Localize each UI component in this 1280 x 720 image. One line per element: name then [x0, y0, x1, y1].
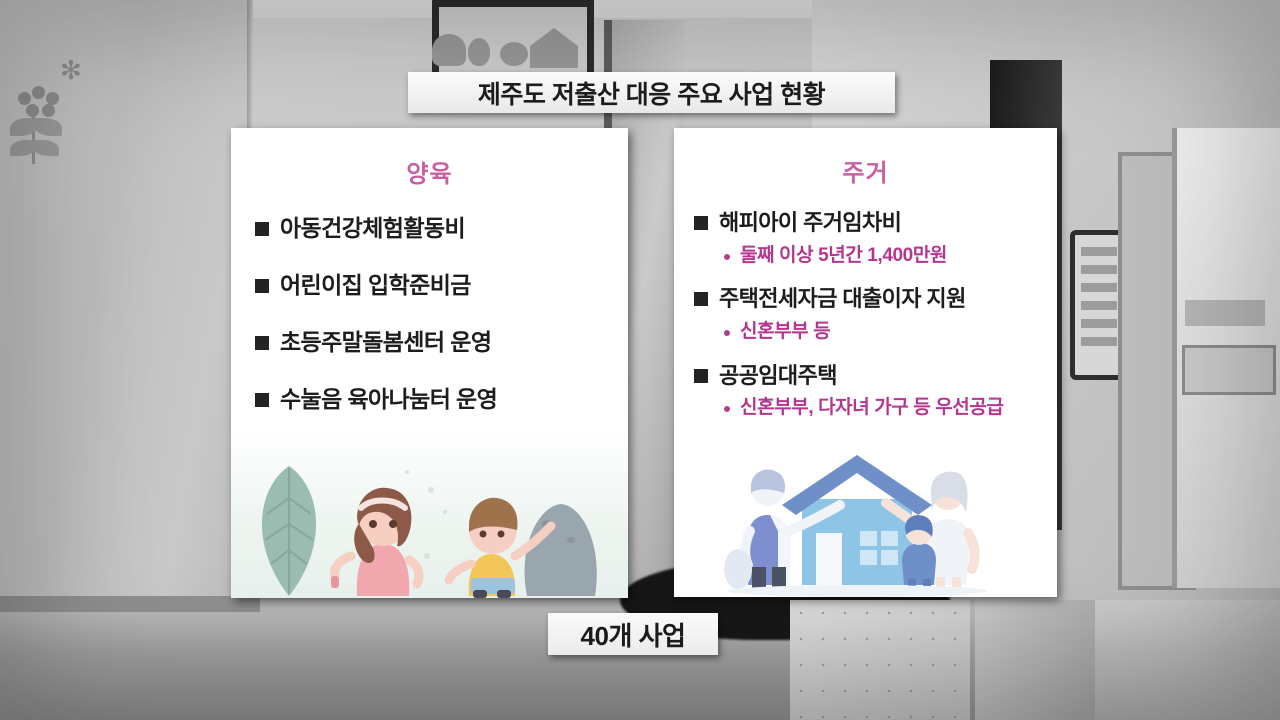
housing-list: 해피아이 주거임차비 둘째 이상 5년간 1,400만원 주택전세자금 대출이자… [674, 208, 1057, 421]
sub-item: 신혼부부, 다자녀 가구 등 우선공급 [724, 396, 1057, 421]
list-item: 해피아이 주거임차비 둘째 이상 5년간 1,400만원 [694, 208, 1057, 268]
list-item-label: 어린이집 입학준비금 [280, 270, 471, 301]
list-item: 수눌음 육아나눔터 운영 [255, 384, 628, 415]
sub-item: 둘째 이상 5년간 1,400만원 [724, 244, 1057, 269]
family-house-svg [674, 427, 1057, 597]
square-bullet-icon [255, 279, 269, 293]
dot-bullet-icon [724, 330, 730, 336]
square-bullet-icon [694, 369, 708, 383]
children-playing-svg [231, 428, 628, 598]
panel-heading-housing: 주거 [674, 153, 1057, 188]
sub-item: 신혼부부 등 [724, 320, 1057, 345]
broadcast-screen: ✻ 제주도 저출산 대응 주요 사업 현황 양육 아동건강체험활동비 어린이집 … [0, 0, 1280, 720]
list-item: 공공임대주택 신혼부부, 다자녀 가구 등 우선공급 [694, 361, 1057, 421]
childcare-illustration [231, 428, 628, 598]
list-item-label: 초등주말돌봄센터 운영 [280, 327, 491, 358]
square-bullet-icon [694, 216, 708, 230]
dot-bullet-icon [724, 254, 730, 260]
page-title: 제주도 저출산 대응 주요 사업 현황 [478, 75, 825, 111]
square-bullet-icon [694, 292, 708, 306]
list-item-label: 아동건강체험활동비 [280, 213, 465, 244]
list-item: 어린이집 입학준비금 [255, 270, 628, 301]
list-item-label: 공공임대주택 [719, 361, 837, 391]
square-bullet-icon [255, 222, 269, 236]
list-item: 주택전세자금 대출이자 지원 신혼부부 등 [694, 284, 1057, 344]
footer-caption-banner: 40개 사업 [548, 613, 718, 655]
list-item: 초등주말돌봄센터 운영 [255, 327, 628, 358]
list-item-label: 주택전세자금 대출이자 지원 [719, 284, 966, 314]
dot-bullet-icon [724, 406, 730, 412]
sub-item-label: 신혼부부, 다자녀 가구 등 우선공급 [740, 396, 1004, 421]
panel-childcare: 양육 아동건강체험활동비 어린이집 입학준비금 초등주말돌봄센터 운영 수눌음 … [231, 128, 628, 598]
list-item: 아동건강체험활동비 [255, 213, 628, 244]
childcare-list: 아동건강체험활동비 어린이집 입학준비금 초등주말돌봄센터 운영 수눌음 육아나… [231, 213, 628, 415]
program-title-banner: 제주도 저출산 대응 주요 사업 현황 [408, 72, 895, 113]
housing-illustration [674, 427, 1057, 597]
square-bullet-icon [255, 336, 269, 350]
square-bullet-icon [255, 393, 269, 407]
panel-housing: 주거 해피아이 주거임차비 둘째 이상 5년간 1,400만원 주택전세자금 대… [674, 128, 1057, 597]
sub-item-label: 신혼부부 등 [740, 320, 830, 345]
list-item-label: 수눌음 육아나눔터 운영 [280, 384, 497, 415]
sub-item-label: 둘째 이상 5년간 1,400만원 [740, 244, 947, 269]
footer-caption-text: 40개 사업 [581, 616, 686, 653]
panel-heading-childcare: 양육 [231, 154, 628, 189]
list-item-label: 해피아이 주거임차비 [719, 208, 901, 238]
